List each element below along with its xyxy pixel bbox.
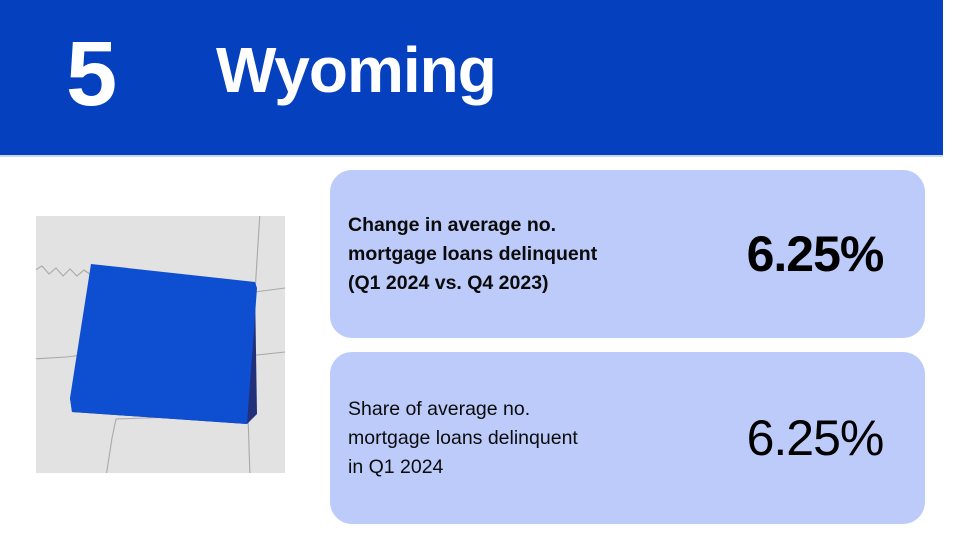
rank-number: 5: [66, 28, 115, 120]
slide-root: 5 Wyoming Change in average no.: [0, 0, 962, 550]
stat-card-label: Share of average no. mortgage loans deli…: [330, 395, 705, 482]
state-map-thumbnail: [36, 216, 285, 473]
state-title: Wyoming: [216, 38, 496, 102]
state-shape-extruded: [70, 264, 257, 424]
state-map-svg: [36, 216, 285, 473]
header-band: 5 Wyoming: [0, 0, 943, 155]
stat-card-value: 6.25%: [705, 229, 925, 279]
stat-card: Change in average no. mortgage loans del…: [330, 170, 925, 338]
stat-card-value: 6.25%: [705, 413, 925, 463]
stat-card-label: Change in average no. mortgage loans del…: [330, 211, 705, 298]
stat-card: Share of average no. mortgage loans deli…: [330, 352, 925, 524]
header-underline-divider: [0, 155, 943, 157]
state-shape-top-face: [70, 264, 257, 424]
